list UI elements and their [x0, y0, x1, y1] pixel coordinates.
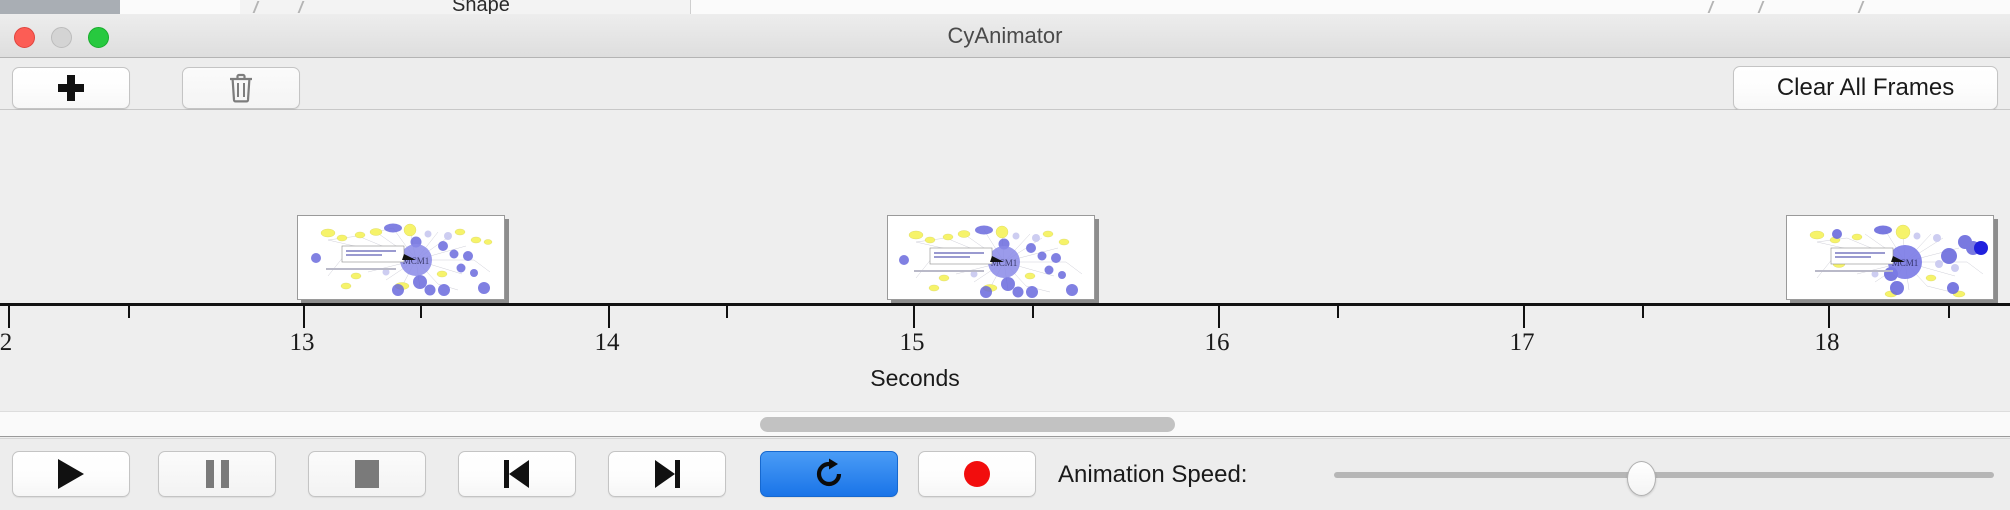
background-window-strip: Shape	[0, 0, 2010, 14]
animation-speed-slider[interactable]	[1334, 472, 1994, 478]
scrollbar-thumb[interactable]	[760, 417, 1175, 432]
axis-line	[0, 303, 2010, 306]
axis-tick-label: 15	[900, 329, 925, 357]
clear-all-frames-button[interactable]: Clear All Frames	[1733, 66, 1998, 110]
axis-tick-minor	[1337, 306, 1339, 318]
axis-tick-major	[1523, 306, 1525, 328]
background-window-header	[0, 0, 120, 14]
axis-tick-minor	[726, 306, 728, 318]
play-button[interactable]	[12, 451, 130, 497]
background-window-label: Shape	[452, 0, 510, 14]
network-graph-preview: MCM1	[298, 216, 505, 300]
playback-bar: Animation Speed:	[0, 438, 2010, 510]
record-dot-icon	[964, 461, 990, 487]
loop-button[interactable]	[760, 451, 898, 497]
background-slash-icon	[1858, 1, 1865, 13]
timeline-panel[interactable]: MCM1	[0, 110, 2010, 411]
axis-tick-minor	[128, 306, 130, 318]
axis-tick-minor	[420, 306, 422, 318]
axis-tick-major	[1218, 306, 1220, 328]
background-slash-icon	[1758, 1, 1765, 13]
animation-speed-slider-thumb[interactable]	[1627, 461, 1656, 496]
axis-tick-label: 16	[1205, 329, 1230, 357]
delete-frame-button[interactable]	[182, 67, 300, 109]
skip-forward-icon	[654, 460, 680, 488]
axis-tick-major	[303, 306, 305, 328]
axis-tick-major	[913, 306, 915, 328]
cyanimator-window: Shape CyAnimator Clear All Frames	[0, 0, 2010, 510]
axis-tick-major	[608, 306, 610, 328]
axis-tick-label: 13	[290, 329, 315, 357]
frame-thumbnail-2[interactable]: MCM1	[887, 215, 1095, 300]
axis-tick-minor	[1642, 306, 1644, 318]
trash-icon	[228, 73, 254, 103]
pause-icon	[206, 460, 229, 488]
next-frame-button[interactable]	[608, 451, 726, 497]
window-title: CyAnimator	[0, 14, 2010, 58]
network-graph-preview: MCM1	[1787, 216, 1994, 300]
timeline-scrollbar[interactable]	[0, 411, 2010, 437]
toolbar: Clear All Frames	[0, 58, 2010, 110]
title-bar: CyAnimator	[0, 14, 2010, 58]
frame-thumbnail-1[interactable]: MCM1	[297, 215, 505, 300]
previous-frame-button[interactable]	[458, 451, 576, 497]
axis-tick-label: 2	[0, 329, 12, 357]
skip-backward-icon	[504, 460, 530, 488]
loop-refresh-icon	[813, 458, 845, 490]
record-button[interactable]	[918, 451, 1036, 497]
stop-button[interactable]	[308, 451, 426, 497]
play-icon	[58, 459, 84, 489]
axis-tick-major	[8, 306, 10, 328]
network-graph-preview: MCM1	[888, 216, 1095, 300]
axis-title: Seconds	[0, 365, 1830, 392]
axis-tick-major	[1828, 306, 1830, 328]
axis-tick-label: 18	[1815, 329, 1840, 357]
plus-icon	[58, 75, 84, 101]
axis-tick-label: 14	[595, 329, 620, 357]
axis-tick-minor	[1032, 306, 1034, 318]
frame-thumbnail-3[interactable]: MCM1	[1786, 215, 1994, 300]
axis-tick-label: 17	[1510, 329, 1535, 357]
timeline-axis[interactable]: 2 13 14 15 16 17 18	[0, 303, 2010, 363]
stop-icon	[355, 460, 379, 488]
add-frame-button[interactable]	[12, 67, 130, 109]
pause-button[interactable]	[158, 451, 276, 497]
axis-tick-minor	[1948, 306, 1950, 318]
background-slash-icon	[1708, 1, 1715, 13]
animation-speed-label: Animation Speed:	[1058, 461, 1247, 489]
